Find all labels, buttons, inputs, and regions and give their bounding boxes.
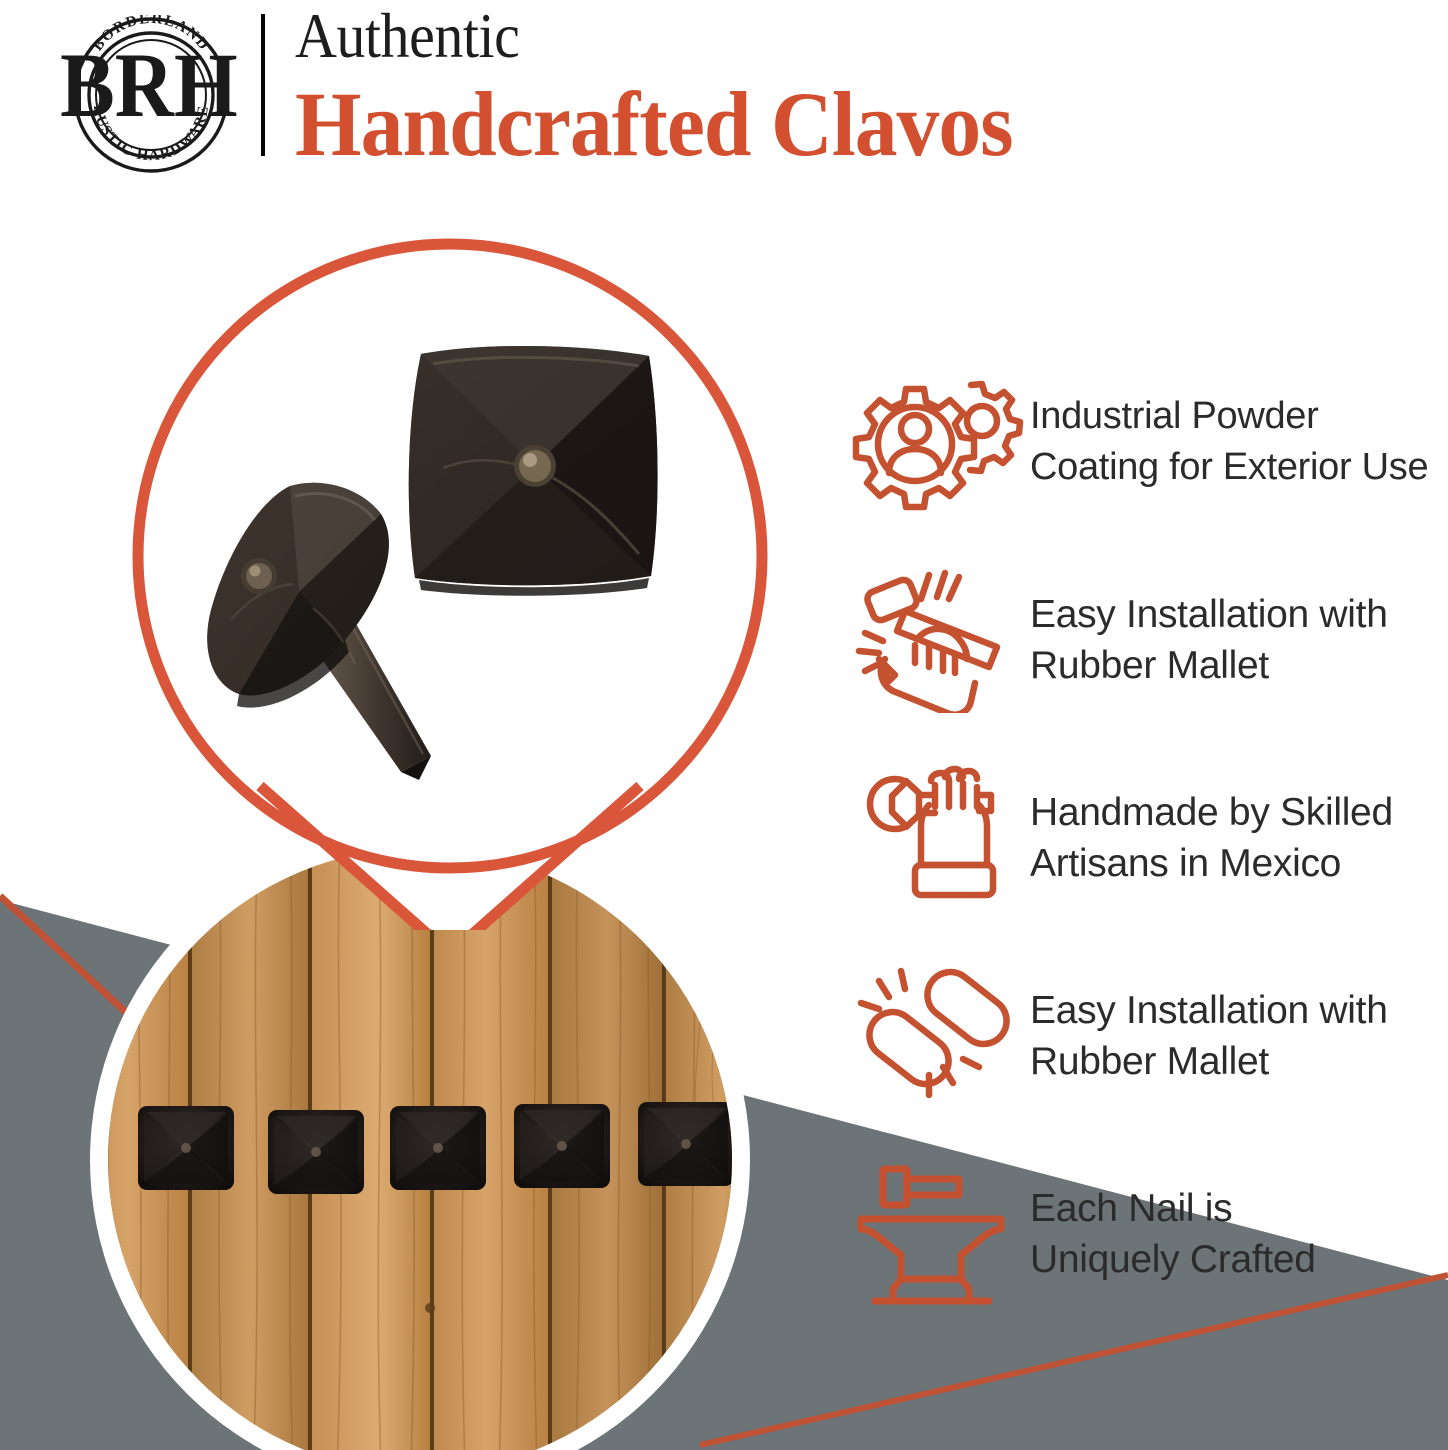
brand-logo-icon: BORDERLAND RUSTIC HARDWARE BRH [56, 15, 246, 175]
feature-item-chain: Easy Installation with Rubber Mallet [848, 962, 1448, 1110]
wooden-door-photo [108, 848, 732, 1450]
clavo-row [138, 1102, 732, 1194]
feature-item-easy-installation: Easy Installation with Rubber Mallet [848, 566, 1448, 714]
feature-label: Each Nail is Uniquely Crafted [1030, 1183, 1448, 1285]
clavo-head-front-view [409, 346, 658, 596]
anvil-with-hammer-icon [848, 1164, 1030, 1304]
page-title: Handcrafted Clavos [295, 76, 1365, 172]
feature-label: Easy Installation with Rubber Mallet [1030, 589, 1448, 691]
page-eyebrow: Authentic [295, 2, 1353, 70]
feature-label: Easy Installation with Rubber Mallet [1030, 985, 1448, 1087]
clavo-product-photo [165, 330, 735, 810]
door-photo-circle [90, 830, 750, 1450]
infographic-page: BORDERLAND RUSTIC HARDWARE BRH Authentic… [0, 0, 1448, 1450]
logo-monogram: BRH [60, 34, 237, 136]
hand-with-mallet-icon [848, 570, 1030, 710]
clavo-with-spike-angled-view [207, 483, 431, 780]
photo-clip [108, 848, 732, 1450]
product-visual-stage [60, 230, 820, 1450]
fist-holding-wrench-icon [848, 768, 1030, 908]
chain-links-icon [848, 966, 1030, 1106]
feature-item-unique: Each Nail is Uniquely Crafted [848, 1160, 1448, 1308]
feature-list: Industrial Powder Coating for Exterior U… [848, 368, 1448, 1308]
feature-item-powder-coating: Industrial Powder Coating for Exterior U… [848, 368, 1448, 516]
feature-label: Industrial Powder Coating for Exterior U… [1030, 391, 1448, 493]
gears-with-person-icon [848, 372, 1030, 512]
header: BORDERLAND RUSTIC HARDWARE BRH Authentic… [0, 0, 1448, 200]
feature-label: Handmade by Skilled Artisans in Mexico [1030, 787, 1448, 889]
title-block: Authentic Handcrafted Clavos [295, 2, 1445, 172]
feature-item-handmade: Handmade by Skilled Artisans in Mexico [848, 764, 1448, 912]
header-divider [261, 14, 265, 156]
